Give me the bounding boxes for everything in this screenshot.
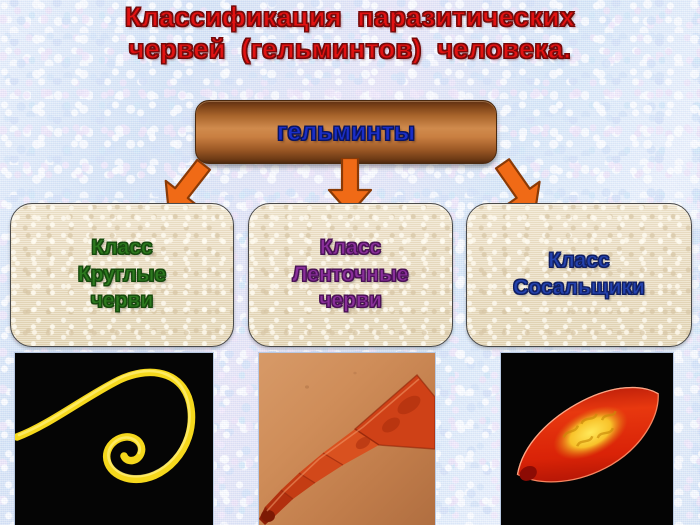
class-box-roundworms-label: Класс Круглые черви xyxy=(78,235,166,316)
class-box-tapeworms[interactable]: Класс Ленточные черви xyxy=(248,203,453,347)
class-box-roundworms[interactable]: Класс Круглые черви xyxy=(10,203,234,347)
class-box-flukes[interactable]: Класс Сосальщики xyxy=(466,203,692,347)
page-title-line-2: червей (гельминтов) человека. xyxy=(0,34,700,66)
page-title: Классификация паразитических червей (гел… xyxy=(0,2,700,66)
page-title-line-1: Классификация паразитических xyxy=(0,2,700,34)
root-node-label: гельминты xyxy=(277,118,415,147)
fluke-photo xyxy=(500,352,674,525)
roundworm-photo xyxy=(14,352,214,525)
tapeworm-photo xyxy=(258,352,436,525)
class-box-tapeworms-label: Класс Ленточные черви xyxy=(293,235,409,316)
slide-canvas: Классификация паразитических червей (гел… xyxy=(0,0,700,525)
root-node-helminths[interactable]: гельминты xyxy=(195,100,497,164)
class-box-flukes-label: Класс Сосальщики xyxy=(513,248,645,302)
